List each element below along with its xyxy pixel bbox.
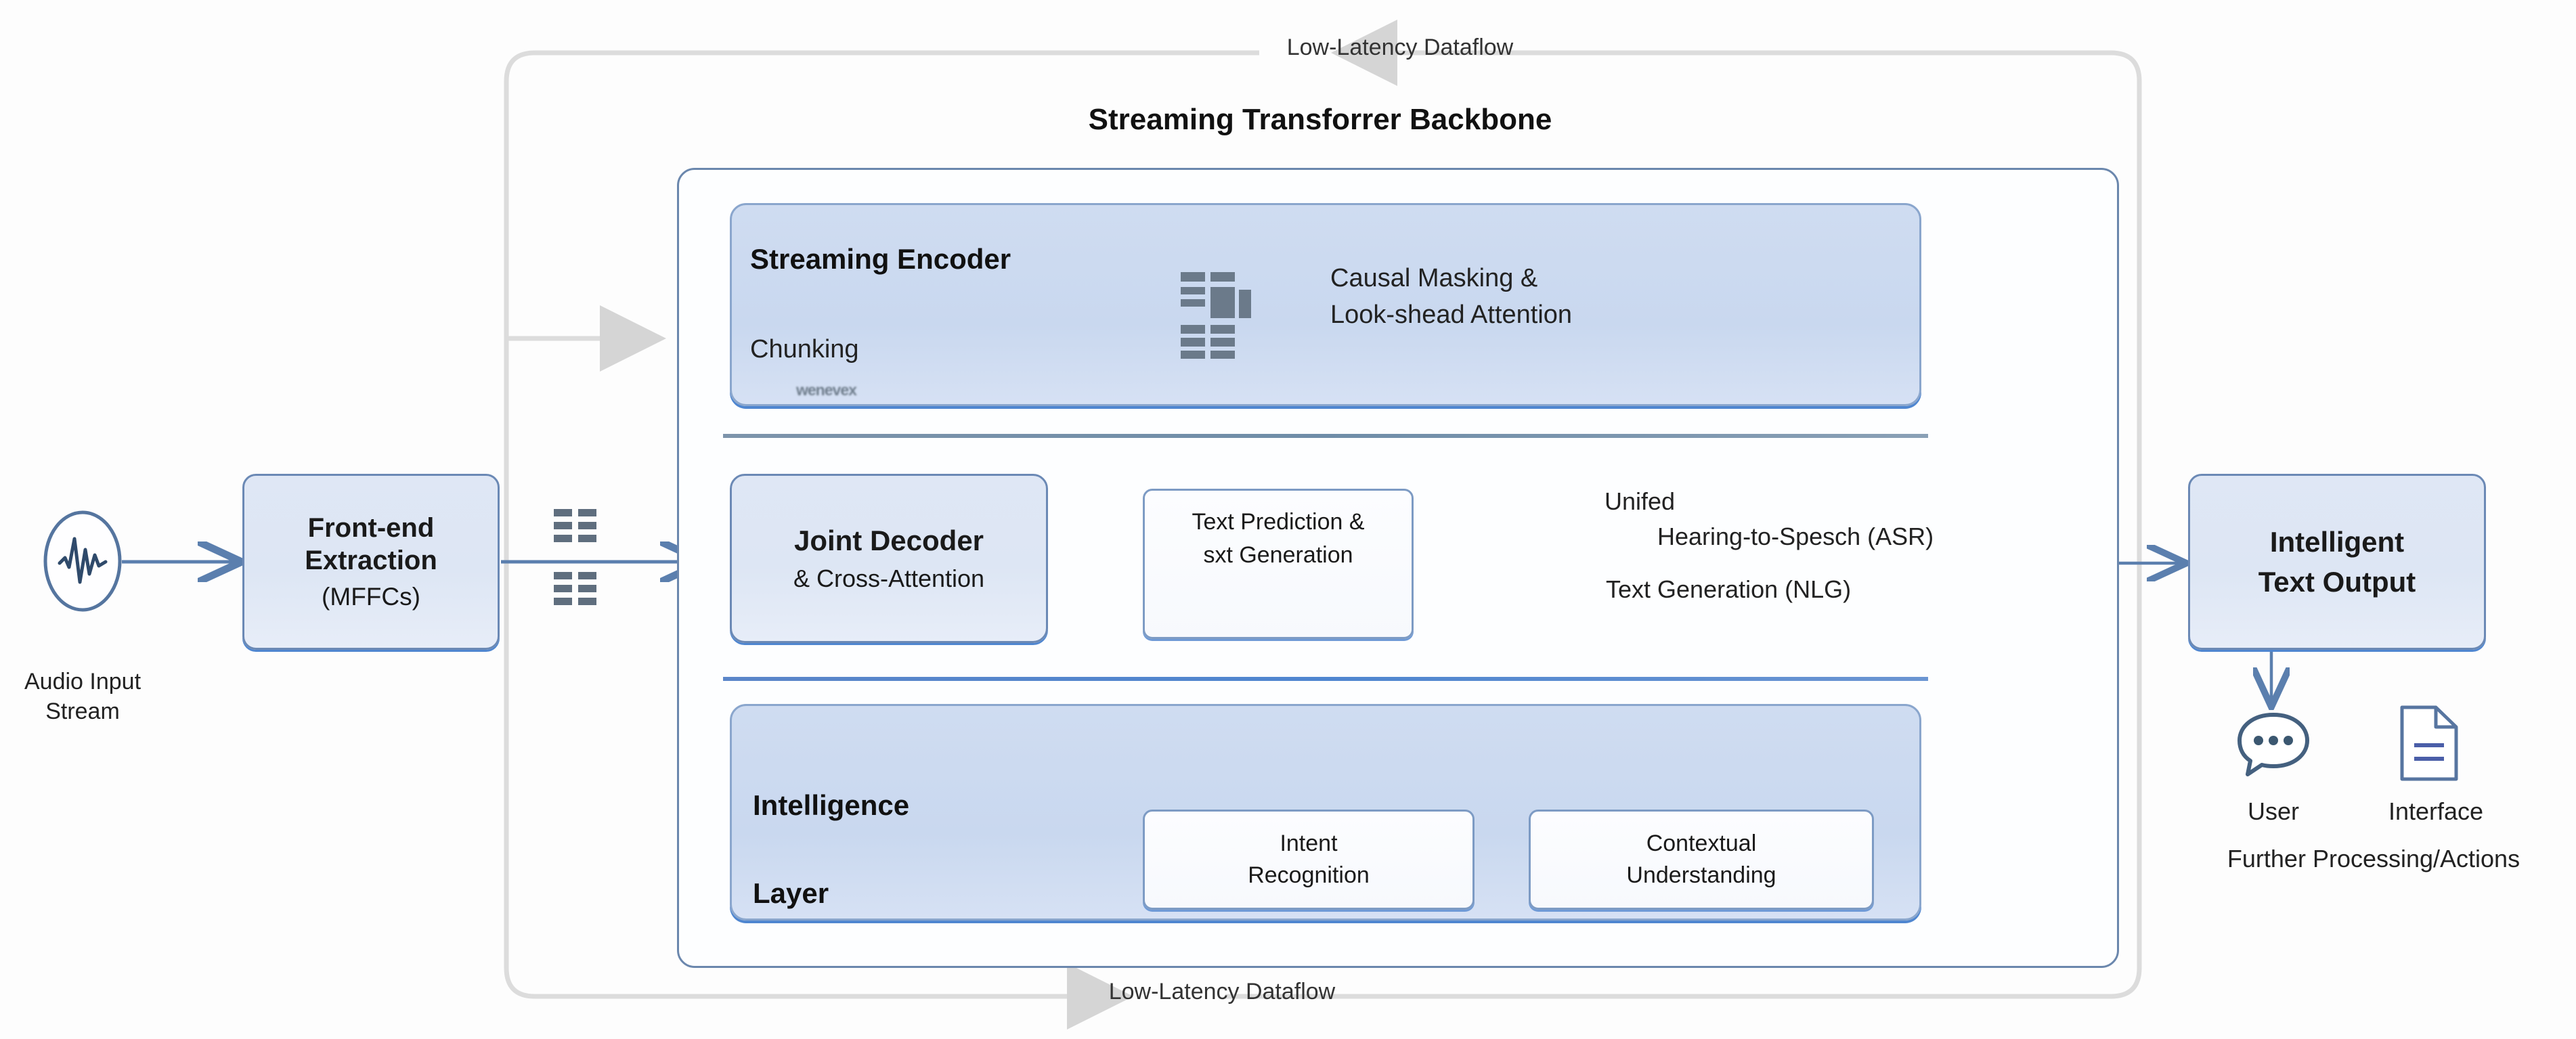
- intent-line1: Intent: [1280, 830, 1337, 858]
- page-title: Streaming Transforrer Backbone: [968, 100, 1672, 139]
- intelligence-title-line2: Layer: [753, 877, 829, 909]
- unified-label: Unifed: [1604, 486, 1675, 518]
- text-prediction-line1: Text Prediction &: [1192, 508, 1364, 536]
- text-prediction-line2: ѕxt Generation: [1203, 541, 1353, 569]
- joint-decoder-box[interactable]: Joint Decoder & Cross-Attention: [730, 474, 1048, 643]
- further-processing-label: Further Processing/Actions: [2177, 843, 2570, 875]
- intelligence-layer-title: Intelligence Layer: [753, 739, 909, 915]
- frontend-title: Front-end Extraction: [305, 512, 437, 578]
- architecture-diagram: Low-Latency Dataflow Streaming Transforr…: [0, 0, 2576, 1039]
- joint-decoder-subtitle: & Cross-Attention: [793, 564, 984, 594]
- streaming-encoder-title: Streaming Encoder: [750, 241, 1011, 278]
- matrix-grid-icon-encoder: [1181, 271, 1251, 362]
- intent-line2: Recognition: [1248, 862, 1370, 889]
- nlg-label: Text Generation (NLG): [1606, 574, 1851, 606]
- interface-label: Interface: [2375, 796, 2497, 828]
- encoder-artifact-text: wenevex: [796, 380, 856, 401]
- user-label: User: [2226, 796, 2321, 828]
- joint-decoder-title: Joint Decoder: [794, 523, 984, 558]
- output-title-line1: Intelligent: [2270, 525, 2404, 559]
- intent-recognition-box[interactable]: Intent Recognition: [1143, 810, 1475, 910]
- intelligence-title-line1: Intelligence: [753, 789, 909, 821]
- intelligent-text-output-box[interactable]: Intelligent Text Output: [2188, 474, 2486, 650]
- matrix-grid-icon-lower: [554, 572, 598, 617]
- chat-bubble-icon: [2234, 709, 2313, 780]
- asr-label: Hearing-to-Spesch (ASR): [1657, 521, 1934, 553]
- bottom-dataflow-label: Low-Latency Dataflow: [1083, 977, 1361, 1007]
- context-line1: Contextual: [1646, 830, 1757, 858]
- matrix-grid-icon-upper: [554, 509, 598, 554]
- causal-masking-label: Causal Masking & Look-shead Attention: [1330, 261, 1572, 334]
- context-line2: Understanding: [1626, 862, 1776, 889]
- contextual-understanding-box[interactable]: Contextual Understanding: [1529, 810, 1874, 910]
- document-icon: [2397, 704, 2462, 782]
- top-dataflow-label: Low-Latency Dataflow: [1265, 32, 1535, 62]
- audio-waveform-icon: [42, 509, 123, 614]
- chunking-label: Chunking: [750, 333, 859, 366]
- frontend-subtitle: (MFFCs): [322, 581, 420, 612]
- backbone-divider-top: [723, 434, 1928, 438]
- audio-input-caption: Audio Input Stream: [0, 667, 177, 726]
- output-title-line2: Text Output: [2258, 565, 2416, 599]
- backbone-divider-bottom: [723, 677, 1928, 681]
- frontend-extraction-box[interactable]: Front-end Extraction (MFFCs): [242, 474, 500, 650]
- text-prediction-box[interactable]: Text Prediction & ѕxt Generation: [1143, 489, 1414, 639]
- streaming-encoder-box[interactable]: [730, 203, 1921, 406]
